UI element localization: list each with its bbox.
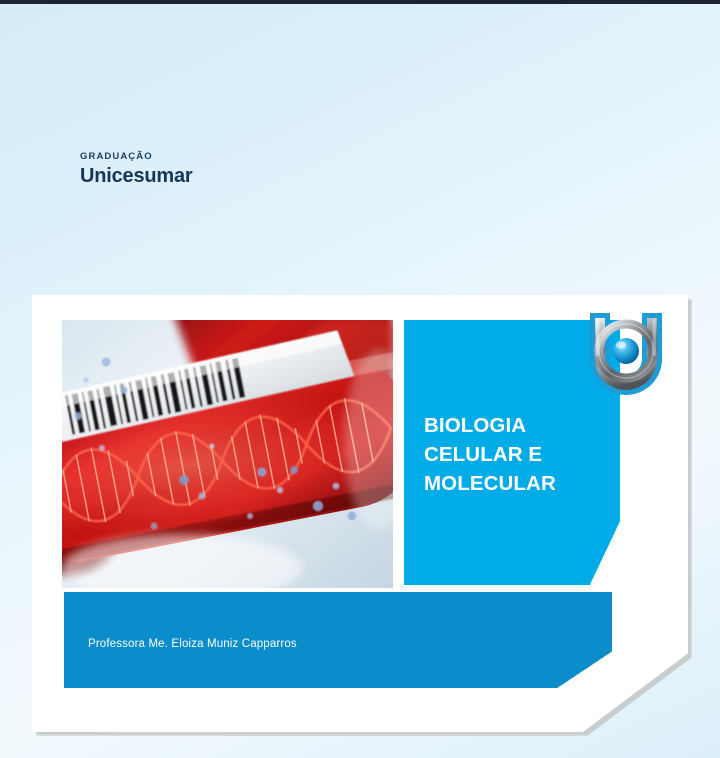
course-title-line-1: BIOLOGIA (424, 411, 624, 440)
brand-block: GRADUAÇÃO Unicesumar (80, 152, 193, 186)
slide-canvas: GRADUAÇÃO Unicesumar (0, 0, 720, 758)
brand-name-label: Unicesumar (80, 166, 193, 186)
course-title-line-3: MOLECULAR (424, 469, 624, 498)
course-title: BIOLOGIA CELULAR E MOLECULAR (424, 411, 624, 498)
brand-eyebrow-label: GRADUAÇÃO (80, 152, 193, 162)
course-title-line-2: CELULAR E (424, 440, 624, 469)
cover-photo (62, 320, 393, 588)
top-dark-strip (0, 0, 720, 4)
unicesumar-emblem-icon (578, 305, 674, 401)
author-name-label: Professora Me. Eloiza Muniz Capparros (88, 638, 297, 650)
